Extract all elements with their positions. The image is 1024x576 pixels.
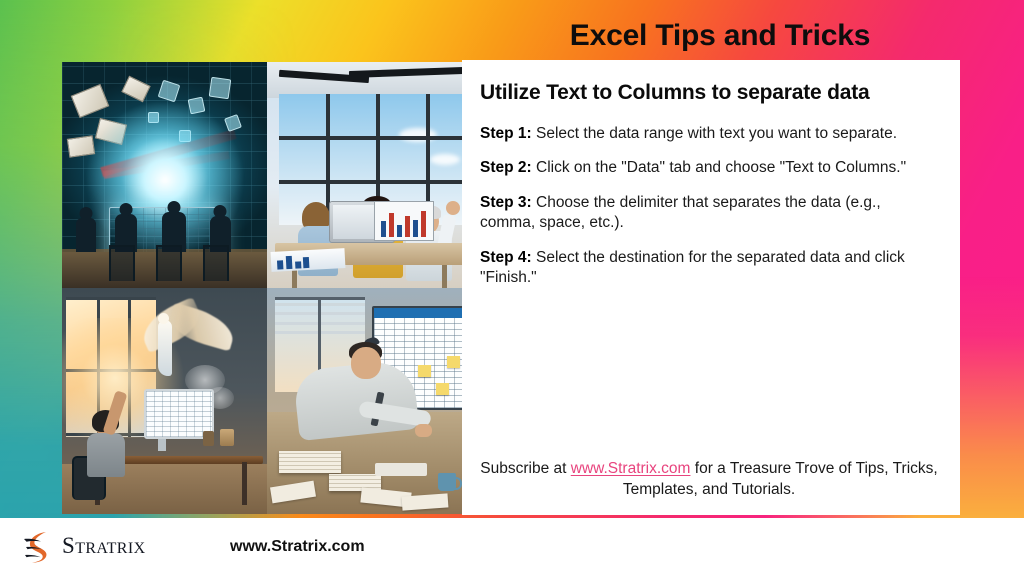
coffee-mug <box>438 473 456 491</box>
stratrix-swirl-icon <box>18 526 58 566</box>
pencil-cup <box>203 431 214 446</box>
head <box>120 203 133 216</box>
chair <box>109 245 135 281</box>
step-4-text: Select the destination for the separated… <box>480 249 905 286</box>
data-chip <box>208 77 231 100</box>
paper-stack <box>279 451 341 473</box>
step-3-text: Choose the delimiter that separates the … <box>480 194 881 231</box>
chair <box>156 245 182 281</box>
fist <box>446 201 460 215</box>
desk-leg <box>242 462 247 505</box>
table-leg <box>442 265 447 288</box>
spreadsheet-header-bar <box>374 308 468 318</box>
step-3: Step 3: Choose the delimiter that separa… <box>480 193 938 233</box>
content-card: Utilize Text to Columns to separate data… <box>462 60 960 515</box>
person-silhouette <box>76 218 96 252</box>
chart-bar <box>397 225 402 237</box>
slide: Excel Tips and Tricks <box>0 0 1024 576</box>
image-office-team-celebrating <box>267 62 472 288</box>
step-2: Step 2: Click on the "Data" tab and choo… <box>480 158 938 178</box>
window-mullion <box>279 180 472 184</box>
step-2-text: Click on the "Data" tab and choose "Text… <box>536 159 906 176</box>
image-man-cluttered-desk <box>267 288 472 514</box>
content-heading: Utilize Text to Columns to separate data <box>480 80 938 106</box>
footer-bar: Stratrix www.Stratrix.com <box>0 518 1024 576</box>
sticky-note <box>447 356 460 368</box>
step-1-label: Step 1: <box>480 125 532 142</box>
image-team-data-visualization <box>62 62 267 288</box>
step-4: Step 4: Select the destination for the s… <box>480 248 938 288</box>
head <box>80 207 93 220</box>
image-collage <box>62 62 472 514</box>
footer-url[interactable]: www.Stratrix.com <box>230 538 365 556</box>
report-bar <box>303 257 310 268</box>
keyboard <box>375 463 427 476</box>
brand-logo[interactable]: Stratrix <box>18 526 146 566</box>
image-woman-desk-angel <box>62 288 267 514</box>
window-frame <box>66 297 156 300</box>
stratrix-link[interactable]: www.Stratrix.com <box>571 460 691 477</box>
printed-reports <box>271 248 346 272</box>
report-bar <box>277 260 283 269</box>
step-1-text: Select the data range with text you want… <box>536 125 897 142</box>
head <box>168 201 181 214</box>
torso <box>87 433 125 477</box>
chair <box>203 245 229 281</box>
step-4-label: Step 4: <box>480 249 532 266</box>
monitor-with-chart <box>374 201 434 241</box>
head <box>351 347 381 379</box>
angel-figure <box>158 320 172 376</box>
subscribe-callout: Subscribe at www.Stratrix.com for a Trea… <box>480 459 938 501</box>
chart-bar <box>413 220 418 237</box>
logo-wordmark: Stratrix <box>62 533 146 559</box>
monitor-stand <box>158 439 166 451</box>
report-bar <box>286 256 293 269</box>
content-card-inner: Utilize Text to Columns to separate data… <box>462 60 960 288</box>
step-1: Step 1: Select the data range with text … <box>480 124 938 144</box>
subscribe-prefix: Subscribe at <box>480 460 570 477</box>
cloud <box>430 154 460 165</box>
hand <box>415 424 432 437</box>
chart-bar <box>381 221 386 237</box>
head <box>214 205 227 218</box>
desk-container <box>220 429 234 446</box>
step-3-label: Step 3: <box>480 194 532 211</box>
sticky-note <box>436 383 449 395</box>
chart-bar <box>389 213 394 237</box>
chart-bar <box>421 211 426 237</box>
chart-bar <box>405 216 410 237</box>
report-bar <box>295 261 301 268</box>
page-title: Excel Tips and Tricks <box>470 14 970 58</box>
step-2-label: Step 2: <box>480 159 532 176</box>
window-mullion <box>279 136 472 140</box>
sticky-note <box>418 365 431 377</box>
